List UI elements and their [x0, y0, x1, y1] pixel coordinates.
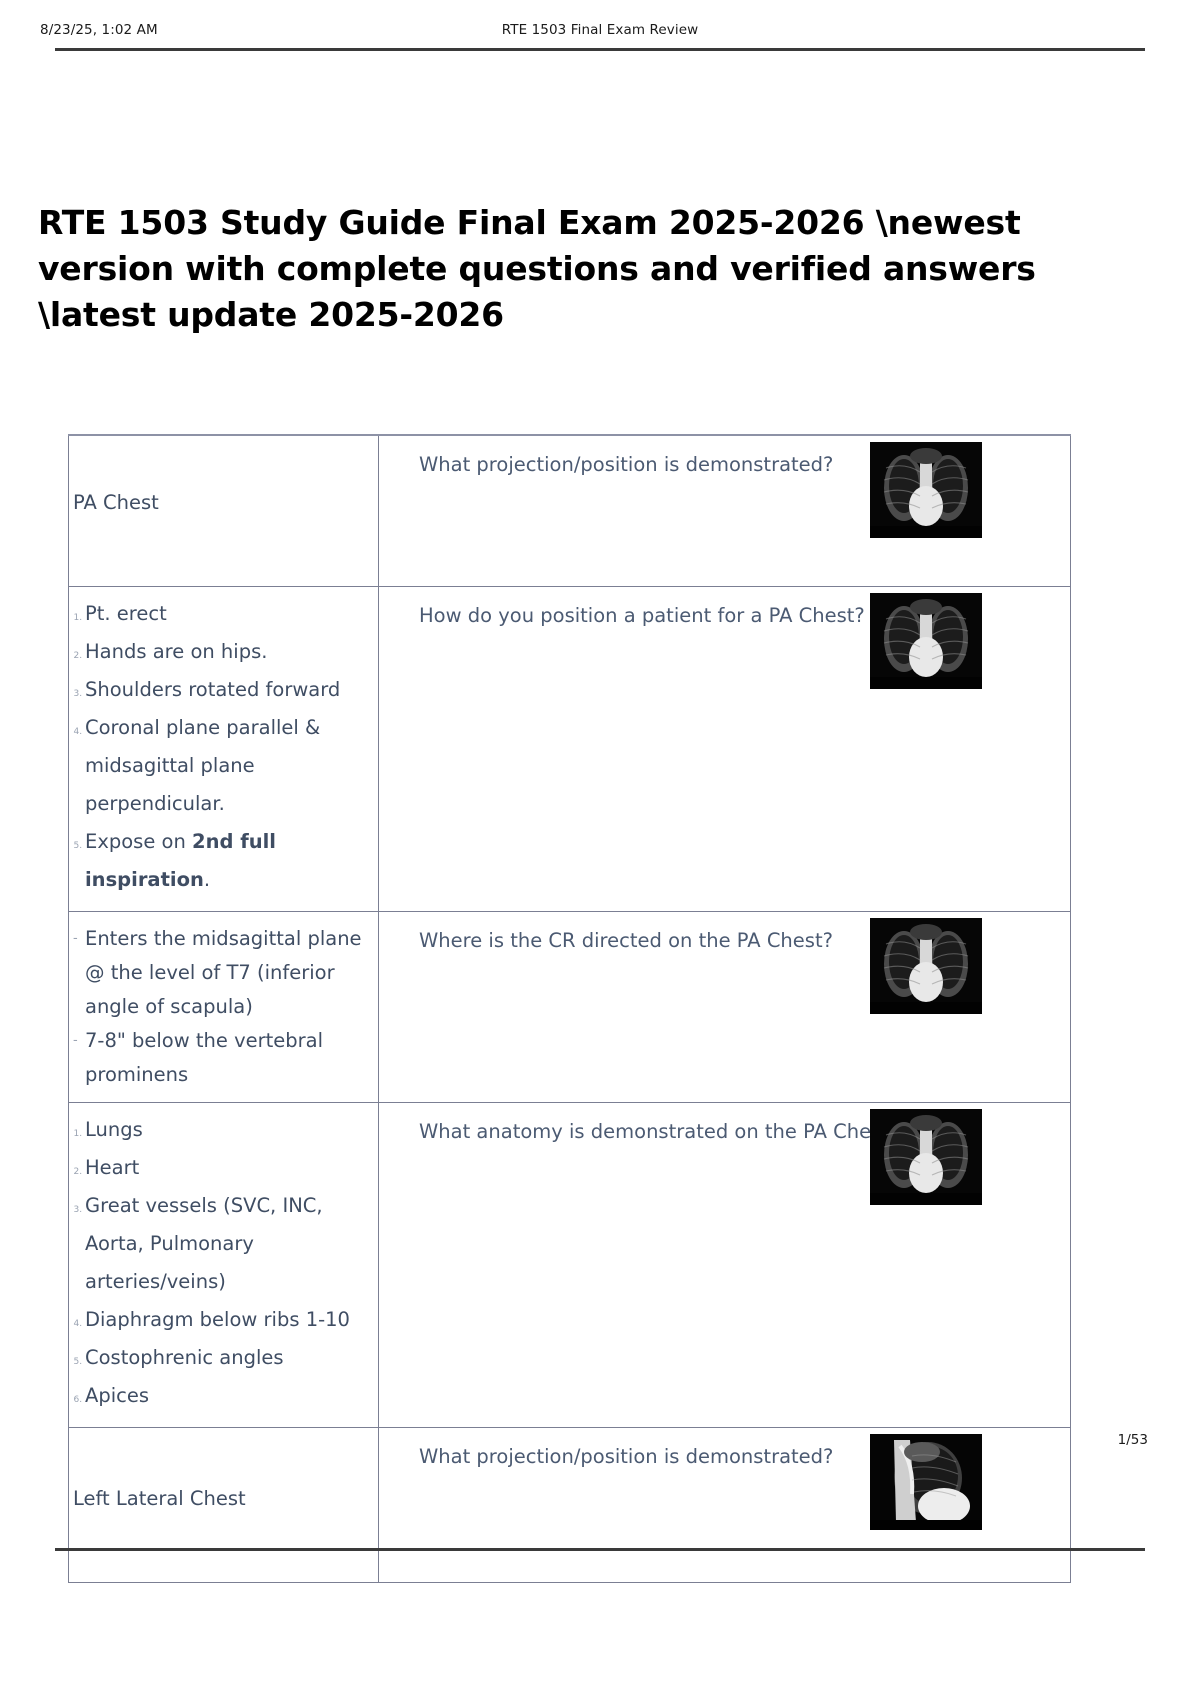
list-item: Great vessels (SVC, INC, Aorta, Pulmonar…	[85, 1189, 372, 1303]
document-page: 8/23/25, 1:02 AM RTE 1503 Final Exam Rev…	[0, 0, 1200, 1700]
list-item: Enters the midsagittal plane @ the level…	[85, 922, 372, 1024]
question-text: What projection/position is demonstrated…	[419, 1445, 833, 1468]
question-cell: Where is the CR directed on the PA Chest…	[379, 912, 1071, 1103]
table-row: Left Lateral Chest What projection/posit…	[69, 1428, 1071, 1583]
page-title: RTE 1503 Study Guide Final Exam 2025-202…	[38, 200, 1048, 338]
table-row: Lungs Heart Great vessels (SVC, INC, Aor…	[69, 1103, 1071, 1428]
print-header: 8/23/25, 1:02 AM RTE 1503 Final Exam Rev…	[0, 22, 1200, 48]
question-text: Where is the CR directed on the PA Chest…	[419, 929, 833, 952]
answer-cell: Enters the midsagittal plane @ the level…	[69, 912, 379, 1103]
question-cell: How do you position a patient for a PA C…	[379, 587, 1071, 912]
list-item: Expose on 2nd full inspiration.	[85, 825, 372, 901]
answer-dashed-list: Enters the midsagittal plane @ the level…	[71, 922, 372, 1092]
chest-xray-lateral-thumbnail	[870, 1434, 982, 1530]
answer-cell: PA Chest	[69, 435, 379, 587]
question-cell: What anatomy is demonstrated on the PA C…	[379, 1103, 1071, 1428]
answer-text: PA Chest	[71, 486, 372, 520]
list-item: Hands are on hips.	[85, 635, 372, 673]
list-item: Pt. erect	[85, 597, 372, 635]
question-text: What anatomy is demonstrated on the PA C…	[419, 1120, 871, 1143]
list-item: Coronal plane parallel & midsagittal pla…	[85, 711, 372, 825]
print-header-title: RTE 1503 Final Exam Review	[0, 22, 1200, 38]
table-row: Pt. erect Hands are on hips. Shoulders r…	[69, 587, 1071, 912]
answer-ordered-list: Lungs Heart Great vessels (SVC, INC, Aor…	[71, 1113, 372, 1417]
chest-xray-pa-thumbnail	[870, 1109, 982, 1205]
answer-cell: Left Lateral Chest	[69, 1428, 379, 1583]
question-cell: What projection/position is demonstrated…	[379, 435, 1071, 587]
question-text: What projection/position is demonstrated…	[419, 453, 833, 476]
list-item: Lungs	[85, 1113, 372, 1151]
list-item: Apices	[85, 1379, 372, 1417]
answer-cell: Pt. erect Hands are on hips. Shoulders r…	[69, 587, 379, 912]
list-item: Shoulders rotated forward	[85, 673, 372, 711]
list-item: Costophrenic angles	[85, 1341, 372, 1379]
header-divider	[55, 48, 1145, 51]
answer-ordered-list: Pt. erect Hands are on hips. Shoulders r…	[71, 597, 372, 901]
table-row: PA Chest What projection/position is dem…	[69, 435, 1071, 587]
answer-cell: Lungs Heart Great vessels (SVC, INC, Aor…	[69, 1103, 379, 1428]
footer-divider	[55, 1548, 1145, 1551]
chest-xray-pa-thumbnail	[870, 442, 982, 538]
chest-xray-pa-thumbnail	[870, 918, 982, 1014]
list-item: 7-8" below the vertebral prominens	[85, 1024, 372, 1092]
list-item: Heart	[85, 1151, 372, 1189]
table-row: Enters the midsagittal plane @ the level…	[69, 912, 1071, 1103]
page-number: 1/53	[1118, 1432, 1148, 1448]
chest-xray-pa-thumbnail	[870, 593, 982, 689]
list-item: Diaphragm below ribs 1-10	[85, 1303, 372, 1341]
qa-table: PA Chest What projection/position is dem…	[68, 434, 1071, 1583]
question-cell: What projection/position is demonstrated…	[379, 1428, 1071, 1583]
question-text: How do you position a patient for a PA C…	[419, 604, 865, 627]
answer-text: Left Lateral Chest	[71, 1482, 372, 1516]
